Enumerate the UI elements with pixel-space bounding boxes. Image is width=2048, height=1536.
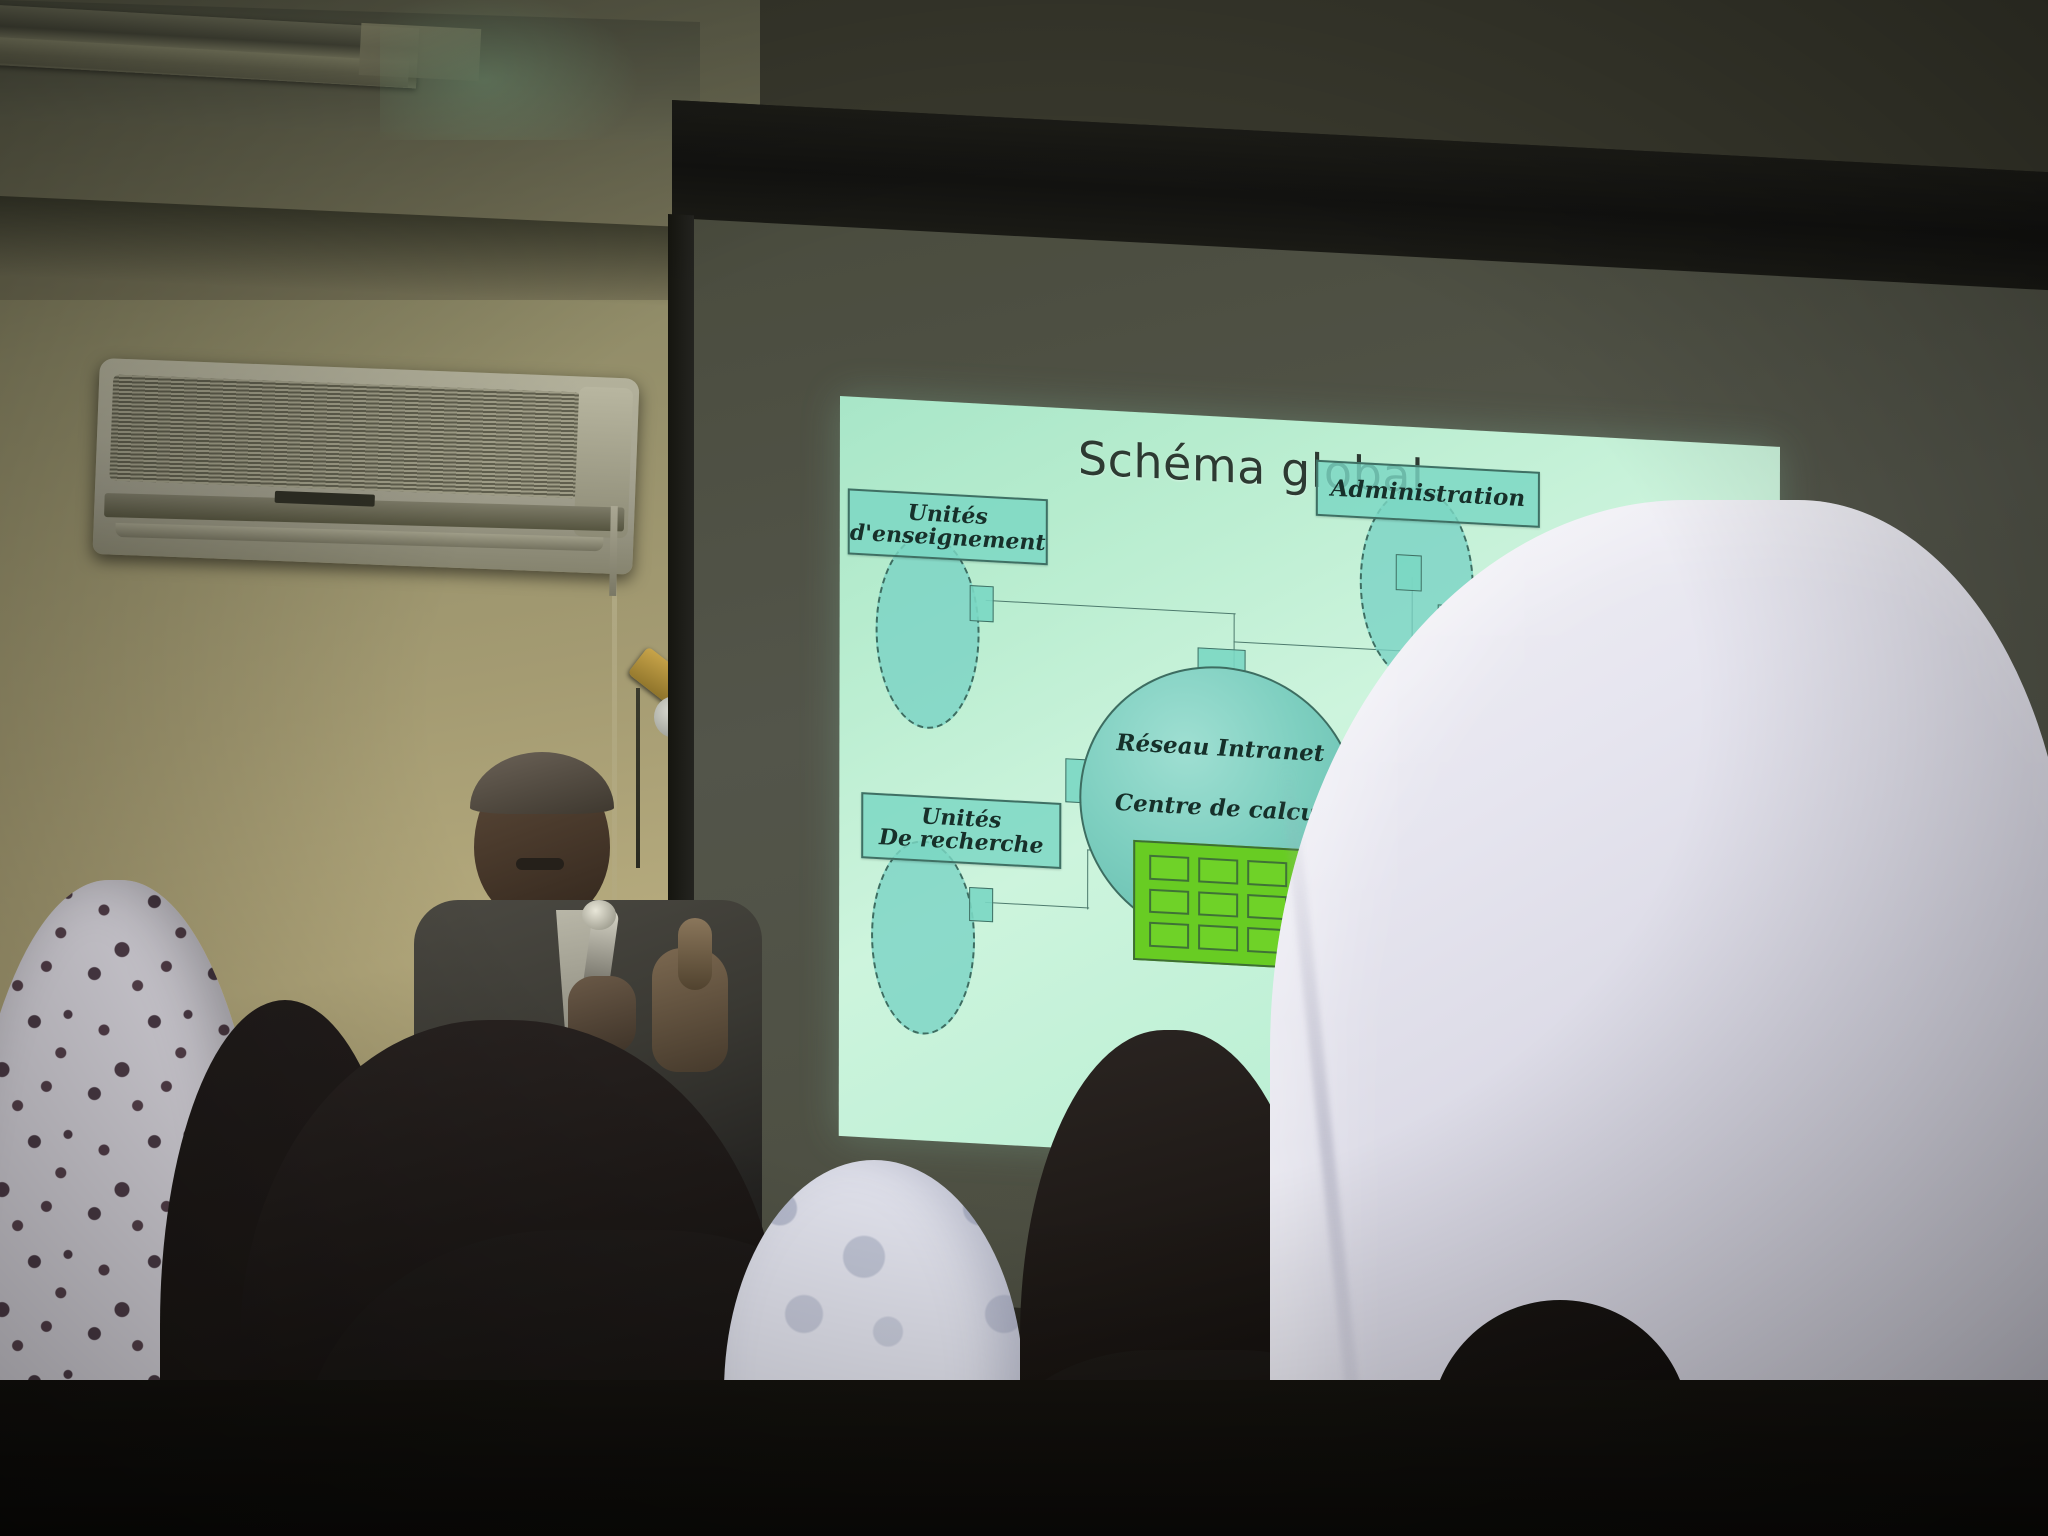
presenter-thumb: [678, 918, 712, 990]
label-line-2: De recherche: [879, 824, 1044, 859]
label-administration: Administration: [1316, 460, 1540, 528]
node-unites-recherche: [871, 838, 975, 1038]
foreground-shadow: [0, 1380, 2048, 1536]
server-cell: [1198, 891, 1238, 918]
presentation-room-photo: Schéma global: [0, 0, 2048, 1536]
label-unites-recherche: Unités De recherche: [861, 792, 1061, 869]
connector-ur-vertical: [1087, 849, 1088, 909]
ceiling-glow: [380, 0, 640, 140]
server-cell: [1247, 894, 1287, 921]
server-cell: [1149, 855, 1189, 882]
server-cell: [1198, 857, 1238, 884]
server-cell: [1198, 925, 1238, 952]
presenter-mustache: [516, 858, 564, 870]
air-conditioner-grille: [109, 375, 581, 499]
microphone-head-icon: [582, 900, 616, 930]
connector-ue-to-intranet: [986, 600, 1236, 615]
port-admin: [1396, 554, 1422, 591]
server-cell: [1247, 860, 1287, 887]
node-unites-enseignement: [875, 532, 979, 732]
port-ue: [970, 585, 994, 622]
label-line-2: d'enseignement: [850, 520, 1046, 557]
port-ur: [969, 887, 993, 922]
label-unites-enseignement: Unités d'enseignement: [848, 488, 1048, 565]
connector-ur-to-intranet: [985, 902, 1089, 909]
air-conditioner-icon: [92, 358, 639, 575]
presenter-hair: [470, 752, 614, 814]
server-cell: [1149, 922, 1189, 949]
server-cell: [1149, 888, 1189, 915]
